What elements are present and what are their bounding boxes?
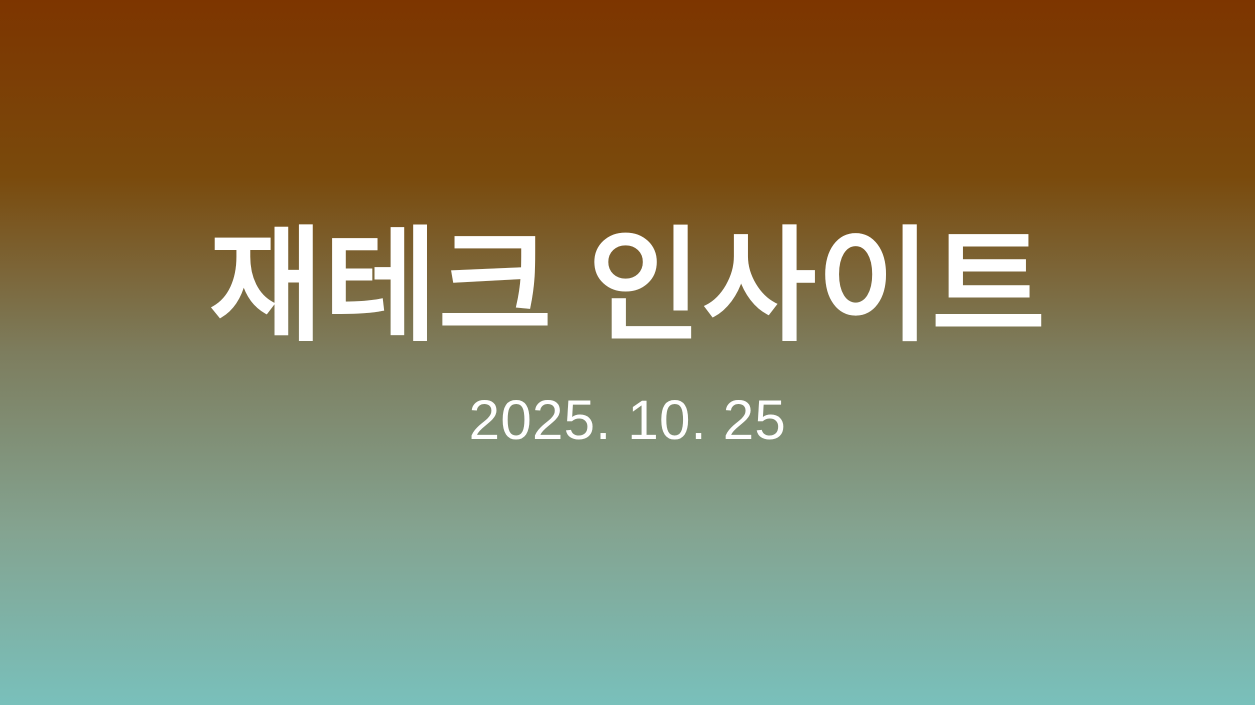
- cover-slide: 재테크 인사이트 2025. 10. 25: [0, 0, 1255, 705]
- page-title: 재테크 인사이트: [209, 222, 1046, 352]
- cover-content-block: 재테크 인사이트 2025. 10. 25: [0, 0, 1255, 705]
- cover-date: 2025. 10. 25: [469, 386, 786, 453]
